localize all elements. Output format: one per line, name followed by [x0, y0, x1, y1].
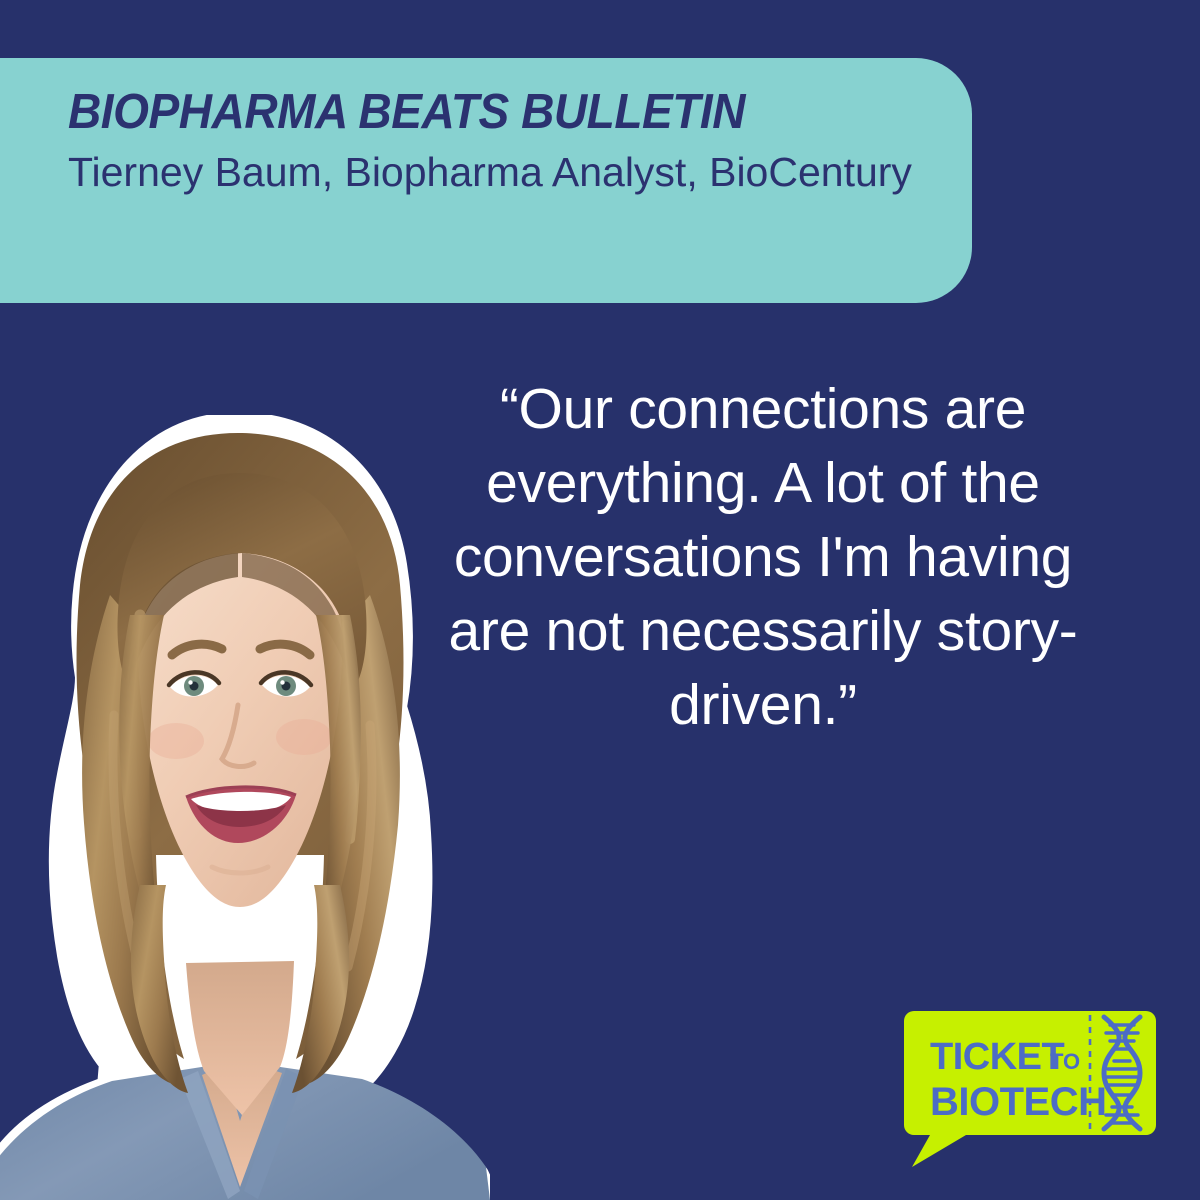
logo-line2-biotech: BIOTECH [930, 1080, 1107, 1124]
portrait-outline [0, 423, 490, 1200]
neck-opening [202, 1065, 282, 1187]
pull-quote: “Our connections are everything. A lot o… [418, 372, 1108, 742]
hair-right [310, 595, 400, 1083]
nose [222, 705, 254, 766]
avatar [0, 415, 490, 1200]
page-title: BIOPHARMA BEATS BULLETIN [68, 88, 880, 137]
hair-back [77, 433, 404, 1059]
mouth [186, 787, 296, 843]
speaker-credit: Tierney Baum, Biopharma Analyst, BioCent… [68, 145, 932, 200]
social-quote-card: BIOPHARMA BEATS BULLETIN Tierney Baum, B… [0, 0, 1200, 1200]
logo-line1-ticket: TICKET [930, 1036, 1065, 1078]
eyebrow-right [260, 644, 310, 655]
face [138, 507, 342, 907]
hair-fringe [117, 473, 366, 681]
blouse [0, 1061, 490, 1200]
eye-left [169, 672, 219, 696]
eyebrow-left [172, 644, 222, 655]
logo-line1-to: TO [1050, 1049, 1080, 1074]
hair-left [82, 595, 170, 1083]
neck [186, 961, 294, 1115]
eye-right [261, 672, 311, 696]
ticket-to-biotech-logo[interactable]: TICKET TO BIOTECH [900, 1005, 1170, 1173]
header-banner: BIOPHARMA BEATS BULLETIN Tierney Baum, B… [0, 58, 972, 303]
